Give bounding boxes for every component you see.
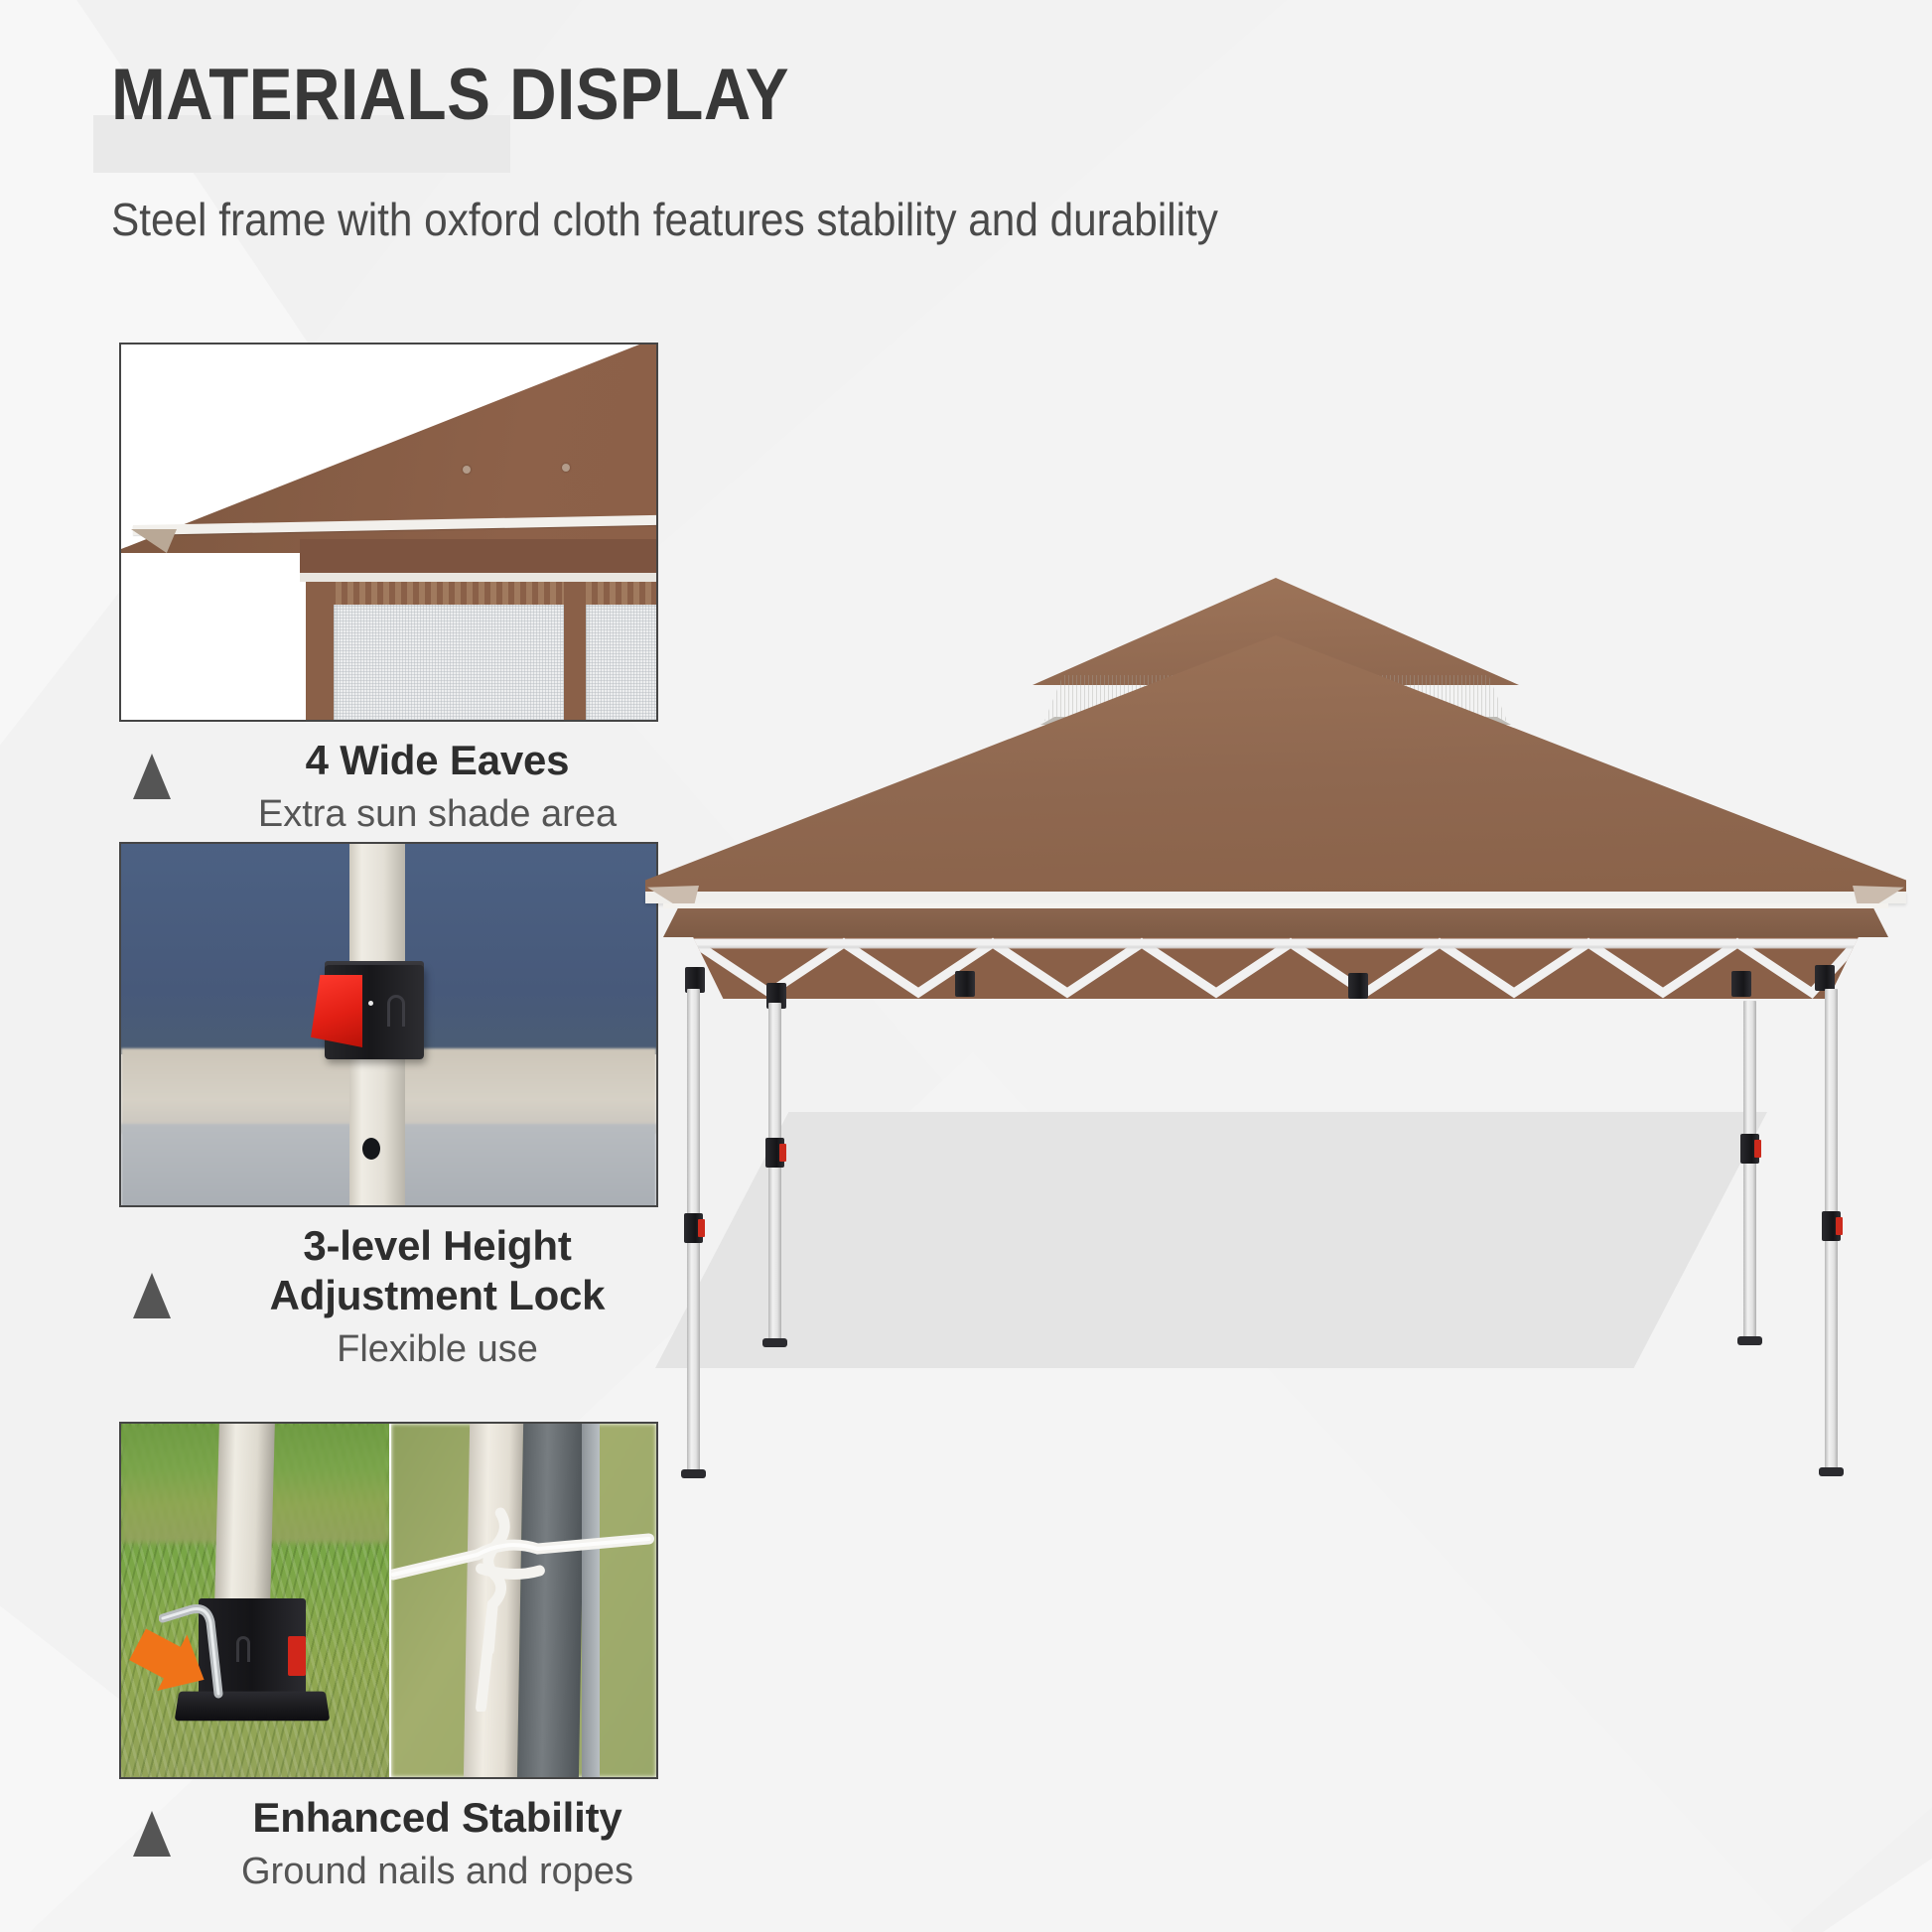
feature-caption-height-lock: 3-level Height Adjustment Lock Flexible … bbox=[119, 1221, 660, 1374]
pole-adjustment-hole bbox=[362, 1138, 380, 1160]
gazebo-leg-back-left-lower bbox=[768, 1156, 781, 1344]
photo-half-rope-tie bbox=[389, 1424, 657, 1777]
triangle-up-icon bbox=[133, 1273, 171, 1318]
gazebo-leg-back-right-upper bbox=[1743, 1001, 1756, 1156]
canopy-mesh-panel-a bbox=[334, 605, 564, 722]
gazebo-leg-bracket-4 bbox=[1348, 973, 1368, 999]
triangle-up-icon bbox=[133, 754, 171, 799]
feature-photo-height-lock bbox=[119, 842, 658, 1207]
canopy-valance bbox=[306, 582, 658, 606]
gazebo-leg-lock-clip-front-right bbox=[1822, 1211, 1841, 1241]
gazebo-leg-foot-back-left bbox=[762, 1338, 787, 1347]
foot-slot-icon bbox=[236, 1636, 250, 1662]
feature-caption-enhanced-stability: Enhanced Stability Ground nails and rope… bbox=[119, 1793, 660, 1896]
canopy-screw-a bbox=[463, 466, 471, 474]
feature-caption-wide-eaves: 4 Wide Eaves Extra sun shade area bbox=[119, 736, 660, 839]
canopy-fascia-band bbox=[300, 539, 658, 573]
feature-subtitle: Extra sun shade area bbox=[214, 789, 660, 839]
feature-photo-wide-eaves bbox=[119, 343, 658, 722]
gazebo-leg-lock-clip-front-left bbox=[684, 1213, 703, 1243]
foot-red-lever bbox=[288, 1636, 306, 1676]
page-title-wrap: MATERIALS DISPLAY bbox=[111, 48, 1600, 155]
gazebo-leg-bracket-6 bbox=[1815, 965, 1835, 991]
canopy-fascia-highlight bbox=[300, 573, 658, 582]
feature-title-line1: 3-level Height bbox=[214, 1221, 660, 1271]
gazebo-leg-front-right-upper bbox=[1825, 989, 1838, 1239]
photo-half-ground-stake bbox=[121, 1424, 389, 1777]
triangle-up-icon bbox=[133, 1811, 171, 1857]
gazebo-fascia-band bbox=[663, 903, 1888, 937]
feature-photo-enhanced-stability bbox=[119, 1422, 658, 1779]
gazebo-leg-foot-back-right bbox=[1737, 1336, 1762, 1345]
gazebo-frame-truss bbox=[675, 937, 1876, 999]
gazebo-leg-front-right-lower bbox=[1825, 1233, 1838, 1473]
red-lock-lever bbox=[311, 975, 362, 1047]
white-rope bbox=[391, 1483, 657, 1712]
canopy-corner-post-left bbox=[306, 582, 334, 722]
gazebo-leg-front-left-upper bbox=[687, 989, 700, 1239]
feature-title: Enhanced Stability bbox=[214, 1793, 660, 1843]
gazebo-leg-foot-front-right bbox=[1819, 1467, 1844, 1476]
gazebo-lower-roof-tier bbox=[645, 635, 1906, 901]
gazebo-leg-lock-clip-back-left bbox=[765, 1138, 784, 1168]
canopy-corner-post-middle bbox=[564, 582, 586, 722]
gazebo-fascia-highlight bbox=[663, 903, 1888, 908]
gazebo-roof-edge-trim bbox=[645, 892, 1906, 903]
gazebo-leg-back-right-lower bbox=[1743, 1152, 1756, 1342]
gazebo-leg-front-left-lower bbox=[687, 1233, 700, 1475]
gazebo-leg-bracket-5 bbox=[1731, 971, 1751, 997]
feature-card-wide-eaves: 4 Wide Eaves Extra sun shade area bbox=[119, 343, 660, 839]
page-title: MATERIALS DISPLAY bbox=[111, 48, 1451, 143]
feature-subtitle: Ground nails and ropes bbox=[214, 1847, 660, 1896]
header: MATERIALS DISPLAY Steel frame with oxfor… bbox=[111, 48, 1600, 246]
gazebo-ground-plane bbox=[655, 1112, 1767, 1368]
feature-card-height-lock: 3-level Height Adjustment Lock Flexible … bbox=[119, 842, 660, 1374]
gazebo-leg-bracket-3 bbox=[955, 971, 975, 997]
canopy-screw-b bbox=[562, 464, 570, 472]
feature-title: 4 Wide Eaves bbox=[214, 736, 660, 785]
lock-pin-dot bbox=[368, 1001, 373, 1006]
feature-title-line2: Adjustment Lock bbox=[214, 1271, 660, 1320]
product-illustration-gazebo bbox=[645, 427, 1906, 1559]
gazebo-leg-foot-front-left bbox=[681, 1469, 706, 1478]
gazebo-leg-back-left-upper bbox=[768, 1003, 781, 1160]
page-subtitle: Steel frame with oxford cloth features s… bbox=[111, 193, 1481, 246]
gazebo-leg-lock-clip-back-right bbox=[1740, 1134, 1759, 1164]
feature-card-enhanced-stability: Enhanced Stability Ground nails and rope… bbox=[119, 1422, 660, 1896]
lock-slot-icon bbox=[387, 995, 405, 1027]
feature-subtitle: Flexible use bbox=[214, 1324, 660, 1374]
